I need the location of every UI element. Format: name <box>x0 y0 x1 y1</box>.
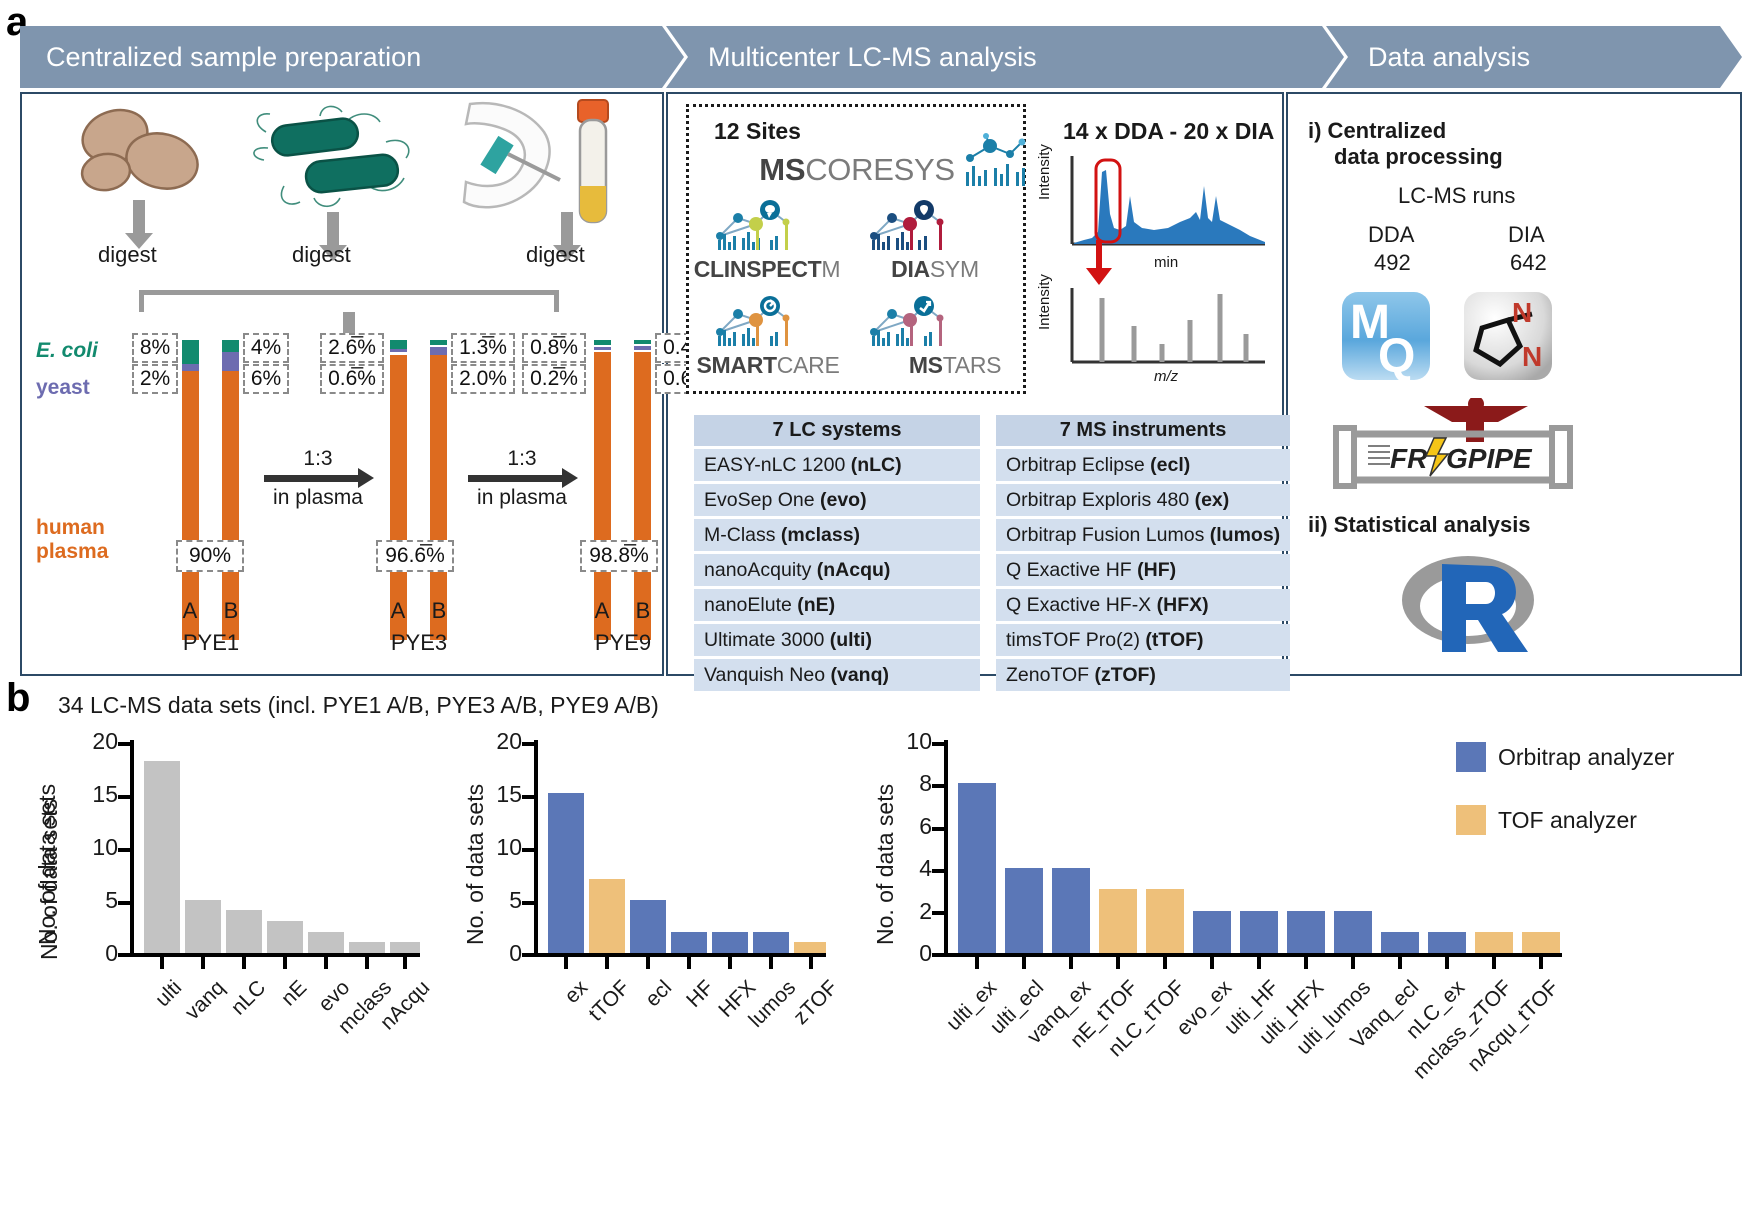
chart1-ytick-5: 5 <box>64 887 118 914</box>
mscoresys-logo-bold: MS <box>759 152 805 187</box>
chart3-bar-ulti_HF <box>1240 911 1278 953</box>
mass-spectrum-plot <box>1050 284 1275 376</box>
chart3-xtickmark <box>1398 957 1402 969</box>
chart1-ytickmark <box>118 901 131 905</box>
smartcare-network-icon <box>712 288 808 350</box>
chart1-ytick-10: 10 <box>64 834 118 861</box>
ms-abbr-1: (ex) <box>1195 489 1230 511</box>
chart1-ytick-20: 20 <box>64 728 118 755</box>
chart3-ytickmark <box>932 784 945 788</box>
chart1-ytickmark <box>118 742 131 746</box>
spectrum-y-axis-label: Intensity <box>1036 274 1053 330</box>
svg-text:N: N <box>1512 297 1532 328</box>
sample-name-pye9: PYE9 <box>576 630 670 656</box>
diann-logo-icon: N N <box>1462 290 1554 382</box>
dilution-arrow-1: 1:3 in plasma <box>260 447 376 510</box>
ms-abbr-4: (HFX) <box>1157 594 1209 616</box>
chevron-step-lcms: Multicenter LC-MS analysis <box>666 26 1344 88</box>
chart1-bar-evo <box>308 932 344 953</box>
sample-label-pye9-b: B <box>629 598 657 624</box>
step-i-line2: data processing <box>1334 144 1503 170</box>
digest-arrow-yeast <box>133 200 145 234</box>
stacked-bar-pye3-a <box>390 340 407 640</box>
digest-label-yeast: digest <box>98 242 157 268</box>
chart2-xtickmark <box>564 957 568 969</box>
arrow-shaft <box>264 475 360 482</box>
chart1-xtickmark <box>403 957 407 969</box>
chart3-legend-tof: TOF analyzer <box>1456 805 1637 835</box>
chart3-ytick-8: 8 <box>878 770 932 797</box>
legend-label-yeast: yeast <box>36 376 90 400</box>
legend-label-tof: TOF analyzer <box>1498 807 1637 834</box>
chart3-ytickmark <box>932 869 945 873</box>
human-plasma-line1: human <box>36 516 105 539</box>
lc-abbr-2: (mclass) <box>781 524 860 546</box>
chart1-xtickmark <box>324 957 328 969</box>
sample-label-pye9-a: A <box>588 598 616 624</box>
chart1-xtickmark <box>242 957 246 969</box>
table-row: Vanquish Neo (vanq) <box>694 659 980 691</box>
chart3-bar-mclass_zTOF <box>1475 932 1513 953</box>
lc-abbr-0: (nLC) <box>851 454 902 476</box>
dia-mode-label: DIA <box>1508 222 1545 248</box>
mscoresys-network-icon <box>960 128 1032 192</box>
svg-text:FR: FR <box>1390 443 1428 474</box>
lcms-runs-label: LC-MS runs <box>1398 183 1515 209</box>
chart1-ytickmark <box>118 848 131 852</box>
chart3-ytick-2: 2 <box>878 898 932 925</box>
legend-swatch-orbitrap <box>1456 742 1486 772</box>
mscoresys-logo-light: CORESYS <box>805 152 955 187</box>
ms-abbr-5: (tTOF) <box>1145 629 1203 651</box>
chart3-bar-nLC_ex <box>1428 932 1466 953</box>
lc-abbr-5: (ulti) <box>830 629 872 651</box>
lc-name-3: nanoAcquity <box>704 559 817 581</box>
ms-table-header: 7 MS instruments <box>996 415 1290 446</box>
stacked-bar-pye1-b <box>222 340 239 640</box>
chart3-y-axis <box>944 740 948 953</box>
chart2-ytick-15: 15 <box>468 781 522 808</box>
sample-label-pye1-b: B <box>217 598 245 624</box>
ms-abbr-6: (zTOF) <box>1095 664 1156 686</box>
sample-name-pye3: PYE3 <box>372 630 466 656</box>
chart3-xtickmark <box>1022 957 1026 969</box>
blood-draw-arm-icon <box>452 98 572 220</box>
chart2-ytickmark <box>522 742 535 746</box>
pct-pye1-human: 90% <box>176 540 244 572</box>
chart3-bar-vanq_ex <box>1052 868 1090 953</box>
chart3-xtickmark <box>1257 957 1261 969</box>
chart2-xtickmark <box>646 957 650 969</box>
chart3-xtickmark <box>975 957 979 969</box>
chart1-bar-nAcqu <box>390 942 420 953</box>
pct-pye1-b-ecoli: 4% <box>243 333 289 363</box>
chart1-xtickmark <box>160 957 164 969</box>
lc-abbr-6: (vanq) <box>830 664 889 686</box>
legend-swatch-tof <box>1456 805 1486 835</box>
table-row: EASY-nLC 1200 (nLC) <box>694 449 980 481</box>
pct-pye1-a-ecoli: 8% <box>132 333 178 363</box>
lc-name-4: nanoElute <box>704 594 797 616</box>
chart2-bar-ex <box>548 793 584 953</box>
chromatogram-x-axis-label: min <box>1154 254 1178 271</box>
digest-arrow-plasma <box>561 212 573 246</box>
svg-text:N: N <box>1522 341 1542 372</box>
mscoresys-logo: MSCORESYS <box>712 152 1002 188</box>
chart2-bar-HFX <box>712 932 748 953</box>
ms-name-2: Orbitrap Fusion Lumos <box>1006 524 1210 546</box>
dda-mode-label: DDA <box>1368 222 1414 248</box>
chart3-bar-ulti_HFX <box>1287 911 1325 953</box>
chart3-x-axis <box>944 953 1562 957</box>
digest-label-ecoli: digest <box>292 242 351 268</box>
smartcare-logo: SMARTCARE <box>688 352 848 379</box>
chart3-xtickmark <box>1116 957 1120 969</box>
chart1-ytick-15: 15 <box>64 781 118 808</box>
chart3-bar-ulti_ex <box>958 783 996 953</box>
table-row: timsTOF Pro(2) (tTOF) <box>996 624 1290 656</box>
table-row: Orbitrap Exploris 480 (ex) <box>996 484 1290 516</box>
sites-count-label: 12 Sites <box>714 118 801 145</box>
ms-name-4: Q Exactive HF-X <box>1006 594 1157 616</box>
lc-name-2: M-Class <box>704 524 781 546</box>
chart1-xtickmark <box>283 957 287 969</box>
chart3-xtickmark <box>1304 957 1308 969</box>
smartcare-logo-bold: SMART <box>697 352 777 378</box>
bar-segment-ecoli <box>390 340 407 349</box>
sample-name-pye1: PYE1 <box>164 630 258 656</box>
chart2-ytickmark <box>522 848 535 852</box>
clinspectm-logo: CLINSPECTM <box>692 256 842 283</box>
step-ii-heading: ii) Statistical analysis <box>1308 512 1531 538</box>
chart3-bar-Vanq_ecl <box>1381 932 1419 953</box>
mstars-logo-bold: MS <box>909 352 943 378</box>
chart2-y-axis <box>534 740 538 953</box>
mstars-logo-light: TARS <box>943 352 1001 378</box>
ms-abbr-0: (ecl) <box>1150 454 1190 476</box>
svg-text:Q: Q <box>1378 330 1415 382</box>
chart2-bar-HF <box>671 932 707 953</box>
table-row: Q Exactive HF-X (HFX) <box>996 589 1290 621</box>
chart3-xtickmark <box>1445 957 1449 969</box>
chart3-xtickmark <box>1163 957 1167 969</box>
ms-name-5: timsTOF Pro(2) <box>1006 629 1145 651</box>
lc-abbr-4: (nE) <box>797 594 835 616</box>
ms-abbr-3: (HF) <box>1137 559 1176 581</box>
table-row: Q Exactive HF (HF) <box>996 554 1290 586</box>
spectrum-x-axis-label: m/z <box>1154 368 1178 385</box>
chart3-ytick-4: 4 <box>878 855 932 882</box>
chart3-xtickmark <box>1069 957 1073 969</box>
chart3-bar-ulti_ecl <box>1005 868 1043 953</box>
bar-segment-yeast <box>222 352 239 371</box>
dilution-medium-2: in plasma <box>464 486 580 510</box>
table-row: ZenoTOF (zTOF) <box>996 659 1290 691</box>
chart1-bar-mclass <box>349 942 385 953</box>
dda-run-count: 492 <box>1374 250 1411 276</box>
yeast-cells-icon <box>70 106 210 196</box>
clinspectm-network-icon <box>712 192 808 254</box>
ms-name-6: ZenoTOF <box>1006 664 1095 686</box>
lc-name-6: Vanquish Neo <box>704 664 830 686</box>
dilution-arrow-2: 1:3 in plasma <box>464 447 580 510</box>
clinspectm-logo-bold: CLINSPECT <box>694 256 822 282</box>
chart3-xtickmark <box>1210 957 1214 969</box>
table-row: Orbitrap Fusion Lumos (lumos) <box>996 519 1290 551</box>
chart1-ytick-0: 0 <box>64 940 118 967</box>
ms-name-1: Orbitrap Exploris 480 <box>1006 489 1195 511</box>
lc-abbr-1: (evo) <box>820 489 867 511</box>
chart2-x-axis <box>534 953 826 957</box>
chart2-xtickmark <box>605 957 609 969</box>
legend-label-human-plasma: human plasma <box>36 516 108 563</box>
chart1-ylabel: No. of data sets <box>34 784 61 945</box>
r-logo-icon <box>1398 548 1538 660</box>
bar-segment-yeast <box>182 364 199 371</box>
sample-label-pye3-b: B <box>425 598 453 624</box>
chart2-ylabel: No. of data sets <box>462 784 489 945</box>
lc-systems-table: 7 LC systems EASY-nLC 1200 (nLC) EvoSep … <box>694 412 980 694</box>
acquisition-count-title: 14 x DDA - 20 x DIA <box>1063 118 1274 145</box>
chart3-ytickmark <box>932 742 945 746</box>
chart2-bar-lumos <box>753 932 789 953</box>
lc-name-5: Ultimate 3000 <box>704 629 830 651</box>
chart3-bar-nLC_tTOF <box>1146 889 1184 953</box>
chart2-bar-zTOF <box>794 942 826 953</box>
chevron-step-data-analysis: Data analysis <box>1326 26 1742 88</box>
table-row: nanoElute (nE) <box>694 589 980 621</box>
ms-abbr-2: (lumos) <box>1210 524 1280 546</box>
ecoli-cells-icon <box>248 102 423 212</box>
chart3-bar-nAcqu_tTOF <box>1522 932 1560 953</box>
sample-label-pye3-a: A <box>384 598 412 624</box>
legend-label-orbitrap: Orbitrap analyzer <box>1498 744 1674 771</box>
chart1-xtickmark <box>201 957 205 969</box>
smartcare-logo-light: CARE <box>777 352 840 378</box>
chart3-ytick-0: 0 <box>878 940 932 967</box>
chart1-bar-ulti <box>144 761 180 953</box>
chromatogram-y-axis-label: Intensity <box>1036 144 1053 200</box>
arrow-shaft <box>468 475 564 482</box>
chart3-bar-ulti_lumos <box>1334 911 1372 953</box>
chart2-ytickmark <box>522 795 535 799</box>
chart2-ytick-0: 0 <box>468 940 522 967</box>
chart3-xtickmark <box>1492 957 1496 969</box>
stacked-bar-pye3-b <box>430 340 447 640</box>
chart3-legend-orbitrap: Orbitrap analyzer <box>1456 742 1674 772</box>
chart3-xtickmark <box>1351 957 1355 969</box>
stacked-bar-pye9-a <box>594 340 611 640</box>
chart3-ytickmark <box>932 953 945 957</box>
chart3-ytickmark <box>932 911 945 915</box>
chart2-ytick-10: 10 <box>468 834 522 861</box>
lc-name-1: EvoSep One <box>704 489 820 511</box>
ms-instruments-table: 7 MS instruments Orbitrap Eclipse (ecl) … <box>996 412 1290 694</box>
table-row: nanoAcquity (nAcqu) <box>694 554 980 586</box>
pct-pye1-a-yeast: 2% <box>132 364 178 394</box>
chart2-ytick-5: 5 <box>468 887 522 914</box>
bar-segment-ecoli <box>182 340 199 364</box>
pct-pye3-a-ecoli: 2.6̅% <box>320 333 384 363</box>
table-row: M-Class (mclass) <box>694 519 980 551</box>
dilution-medium-1: in plasma <box>260 486 376 510</box>
table-row: Orbitrap Eclipse (ecl) <box>996 449 1290 481</box>
diasym-logo: DIASYM <box>860 256 1010 283</box>
ms-name-0: Orbitrap Eclipse <box>1006 454 1150 476</box>
step-i-heading: i) Centralized data processing <box>1308 118 1538 170</box>
diasym-logo-light: SYM <box>930 256 979 282</box>
chart2-ytickmark <box>522 901 535 905</box>
step-i-line1: i) Centralized <box>1308 118 1446 143</box>
mstars-network-icon <box>866 288 962 350</box>
pct-pye3-a-yeast: 0.6̅% <box>320 364 384 394</box>
ms-name-3: Q Exactive HF <box>1006 559 1137 581</box>
chart1-ytickmark <box>118 953 131 957</box>
chevron-step-sample-prep: Centralized sample preparation <box>20 26 684 88</box>
stacked-bar-pye1-a <box>182 340 199 640</box>
bar-segment-human <box>594 352 611 640</box>
svg-text:GPIPE: GPIPE <box>1446 443 1533 474</box>
lc-table-header: 7 LC systems <box>694 415 980 446</box>
bar-segment-yeast <box>430 347 447 355</box>
maxquant-logo-icon: M Q <box>1340 290 1432 382</box>
table-row: Ultimate 3000 (ulti) <box>694 624 980 656</box>
fragpipe-logo-icon: FR GPIPE <box>1328 398 1576 498</box>
workflow-chevron-bar: Centralized sample preparation Multicent… <box>20 26 1742 88</box>
pct-pye3-b-ecoli: 1.3̅% <box>451 333 515 363</box>
digest-label-plasma: digest <box>526 242 585 268</box>
stacked-bar-pye9-b <box>634 340 651 640</box>
chart1-ytickmark <box>118 795 131 799</box>
pct-pye9-a-yeast: 0.2̅% <box>522 364 586 394</box>
chart1-y-axis <box>130 740 134 953</box>
diasym-logo-bold: DIA <box>891 256 930 282</box>
bar-segment-human <box>634 352 651 640</box>
chart2-bar-ecl <box>630 900 666 953</box>
pct-pye3-b-yeast: 2.0% <box>451 364 515 394</box>
chart1-xtickmark <box>365 957 369 969</box>
chart2-bar-tTOF <box>589 879 625 953</box>
chart2-xtickmark <box>687 957 691 969</box>
clinspectm-logo-light: M <box>821 256 840 282</box>
sample-label-pye1-a: A <box>176 598 204 624</box>
pct-pye9-human: 98.8̅% <box>580 540 658 572</box>
panel-b-caption: 34 LC-MS data sets (incl. PYE1 A/B, PYE3… <box>58 692 659 719</box>
legend-label-ecoli: E. coli <box>36 339 98 363</box>
chart1-bar-nE <box>267 921 303 953</box>
pct-pye1-b-yeast: 6% <box>243 364 289 394</box>
chart3-bar-evo_ex <box>1193 911 1231 953</box>
chart2-ytick-20: 20 <box>468 728 522 755</box>
blood-collection-tube-icon <box>566 98 622 230</box>
chart1-bar-vanq <box>185 900 221 953</box>
chart-lc-systems: No. of data sets <box>0 730 420 1210</box>
diasym-network-icon <box>866 192 962 254</box>
chart3-ytickmark <box>932 827 945 831</box>
lc-name-0: EASY-nLC 1200 <box>704 454 851 476</box>
chart2-xtickmark <box>809 957 813 969</box>
panel-label-b: b <box>6 678 30 718</box>
table-row: EvoSep One (evo) <box>694 484 980 516</box>
chart2-xtickmark <box>769 957 773 969</box>
merge-bracket <box>139 290 559 312</box>
chart2-ytickmark <box>522 953 535 957</box>
chart3-bar-nE_tTOF <box>1099 889 1137 953</box>
chart1-bar-nLC <box>226 910 262 953</box>
chart3-ytick-6: 6 <box>878 813 932 840</box>
pct-pye9-a-ecoli: 0.8̅% <box>522 333 586 363</box>
dia-run-count: 642 <box>1510 250 1547 276</box>
digest-arrow-ecoli <box>327 212 339 246</box>
chart3-xtickmark <box>1539 957 1543 969</box>
chart3-ytick-10: 10 <box>878 728 932 755</box>
chart2-xtickmark <box>728 957 732 969</box>
mstars-logo: MSTARS <box>880 352 1030 379</box>
lc-abbr-3: (nAcqu) <box>817 559 891 581</box>
chart1-x-axis <box>130 953 420 957</box>
pct-pye3-human: 96.6̅% <box>376 540 454 572</box>
human-plasma-line2: plasma <box>36 540 108 563</box>
red-transfer-arrow <box>1082 240 1116 286</box>
bar-segment-ecoli <box>222 340 239 352</box>
